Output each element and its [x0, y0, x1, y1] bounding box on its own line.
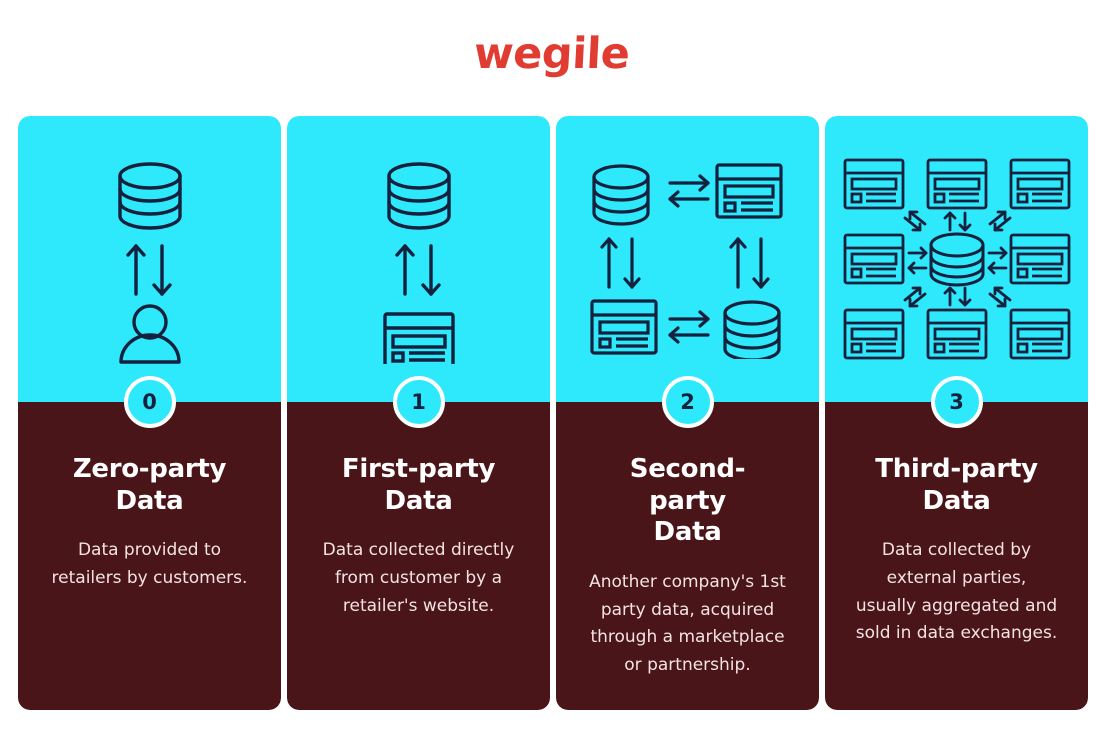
database-icon [931, 234, 983, 285]
step-badge-1: 1 [393, 376, 445, 428]
webpage-icon [385, 314, 453, 364]
card-title-first-party: First-party Data [342, 454, 495, 517]
card-content-third-party: Third-party Data Data collected by exter… [825, 402, 1088, 710]
step-badge-0: 0 [124, 376, 176, 428]
exchange-arrows-icon [670, 176, 708, 206]
database-icon [594, 166, 648, 224]
card-content-zero-party: Zero-party Data Data provided to retaile… [18, 402, 281, 710]
exchange-arrows-icon [670, 312, 708, 342]
diagram-two-by-two-exchange [578, 159, 798, 359]
card-title-zero-party: Zero-party Data [73, 454, 226, 517]
card-content-second-party: Second-party Data Another company's 1st … [556, 402, 819, 710]
webpage-icon [1011, 160, 1069, 208]
card-illustration-second-party [556, 116, 819, 402]
card-description-first-party: Data collected directly from customer by… [316, 537, 521, 620]
diagram-hub-and-spoke [839, 156, 1075, 362]
card-title-line2: Data [116, 486, 184, 516]
card-description-second-party: Another company's 1st party data, acquir… [585, 569, 790, 679]
card-illustration-third-party [825, 116, 1088, 402]
wegile-logo: wegile [473, 33, 631, 76]
card-illustration-zero-party [18, 116, 281, 402]
webpage-icon [928, 160, 986, 208]
card-title-line2: Data [385, 486, 453, 516]
database-icon [389, 164, 449, 228]
person-icon [121, 306, 179, 362]
card-title-line1: Third-party [875, 454, 1037, 484]
webpage-icon [1011, 235, 1069, 283]
card-description-zero-party: Data provided to retailers by customers. [47, 537, 252, 592]
webpage-icon [717, 165, 781, 217]
card-third-party[interactable]: 3 Third-party Data Data collected by ext… [825, 116, 1088, 710]
card-first-party[interactable]: 1 First-party Data Data collected direct… [287, 116, 550, 710]
card-title-line1: First-party [342, 454, 495, 484]
bidirectional-arrows-icon [128, 246, 170, 294]
step-badge-3: 3 [931, 376, 983, 428]
diagram-database-arrows-person [50, 154, 250, 364]
webpage-icon [1011, 310, 1069, 358]
card-title-line1: Zero-party [73, 454, 226, 484]
card-content-first-party: First-party Data Data collected directly… [287, 402, 550, 710]
card-illustration-first-party [287, 116, 550, 402]
card-title-second-party: Second-party Data [593, 454, 783, 549]
brand-header: wegile [0, 0, 1104, 108]
diagram-database-arrows-webpage [319, 154, 519, 364]
webpage-icon [928, 310, 986, 358]
data-types-card-strip: 0 Zero-party Data Data provided to retai… [18, 116, 1088, 710]
radial-arrows-icon [905, 212, 1010, 306]
webpage-icon [592, 301, 656, 353]
bidirectional-arrows-icon [731, 239, 768, 287]
card-title-third-party: Third-party Data [875, 454, 1037, 517]
step-badge-2: 2 [662, 376, 714, 428]
card-title-line2: Data [923, 486, 991, 516]
card-zero-party[interactable]: 0 Zero-party Data Data provided to retai… [18, 116, 281, 710]
bidirectional-arrows-icon [602, 239, 639, 287]
card-title-line2: Data [654, 517, 722, 547]
webpage-icon [845, 160, 903, 208]
webpage-icon [845, 235, 903, 283]
card-title-line1: Second-party [630, 454, 745, 516]
database-icon [120, 164, 180, 228]
webpage-icon [845, 310, 903, 358]
card-description-third-party: Data collected by external parties, usua… [854, 537, 1059, 647]
card-second-party[interactable]: 2 Second-party Data Another company's 1s… [556, 116, 819, 710]
database-icon [725, 302, 779, 359]
bidirectional-arrows-icon [397, 246, 439, 294]
